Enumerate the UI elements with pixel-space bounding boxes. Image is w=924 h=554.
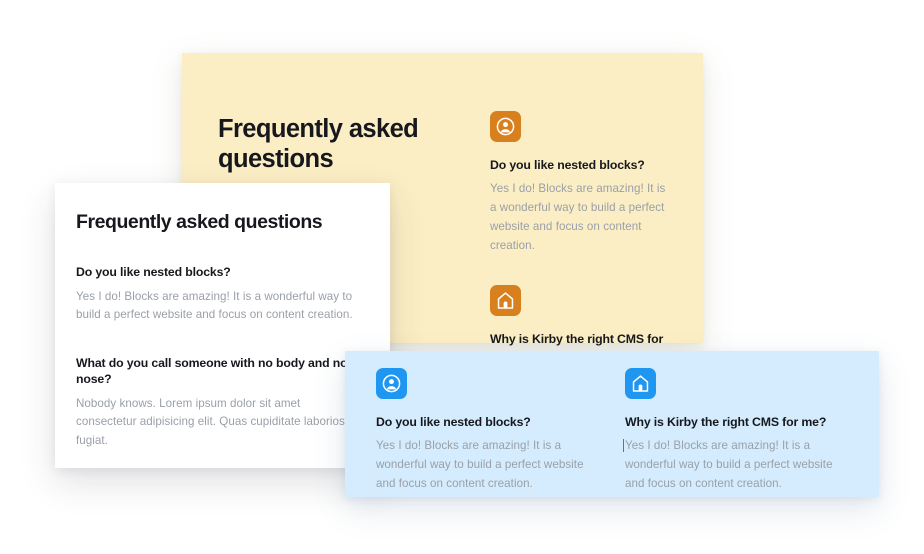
faq-question: Why is Kirby the right CMS for me? [625,414,845,430]
user-avatar-icon [490,111,521,142]
faq-card-white[interactable]: Frequently asked questions Do you like n… [55,183,390,468]
faq-answer: Yes I do! Blocks are amazing! It is a wo… [490,180,673,255]
faq-answer: Nobody knows. Lorem ipsum dolor sit amet… [76,395,364,451]
faq-item[interactable]: Do you like nested blocks? Yes I do! Blo… [76,264,364,325]
home-icon [625,368,656,399]
white-card-title: Frequently asked questions [76,211,364,234]
user-avatar-icon [376,368,407,399]
faq-blocks-preview: Frequently asked questions Do you like n… [0,0,924,554]
page-title: Frequently asked questions [218,114,454,174]
home-icon [490,285,521,316]
yellow-card-items-column: Do you like nested blocks? Yes I do! Blo… [454,89,673,313]
faq-card-blue[interactable]: Do you like nested blocks? Yes I do! Blo… [345,351,879,497]
faq-answer-editing[interactable]: Yes I do! Blocks are amazing! It is a wo… [625,437,845,493]
faq-answer: Yes I do! Blocks are amazing! It is a wo… [376,437,596,493]
faq-item[interactable]: What do you call someone with no body an… [76,355,364,451]
faq-question: Do you like nested blocks? [376,414,596,430]
blue-card-column-left: Do you like nested blocks? Yes I do! Blo… [359,367,608,479]
faq-question: Do you like nested blocks? [76,264,364,280]
blue-card-column-right: Why is Kirby the right CMS for me? Yes I… [608,367,857,479]
faq-item[interactable]: Do you like nested blocks? Yes I do! Blo… [490,111,673,255]
faq-answer: Yes I do! Blocks are amazing! It is a wo… [76,288,364,326]
faq-question: Do you like nested blocks? [490,157,673,173]
faq-question: What do you call someone with no body an… [76,355,364,387]
